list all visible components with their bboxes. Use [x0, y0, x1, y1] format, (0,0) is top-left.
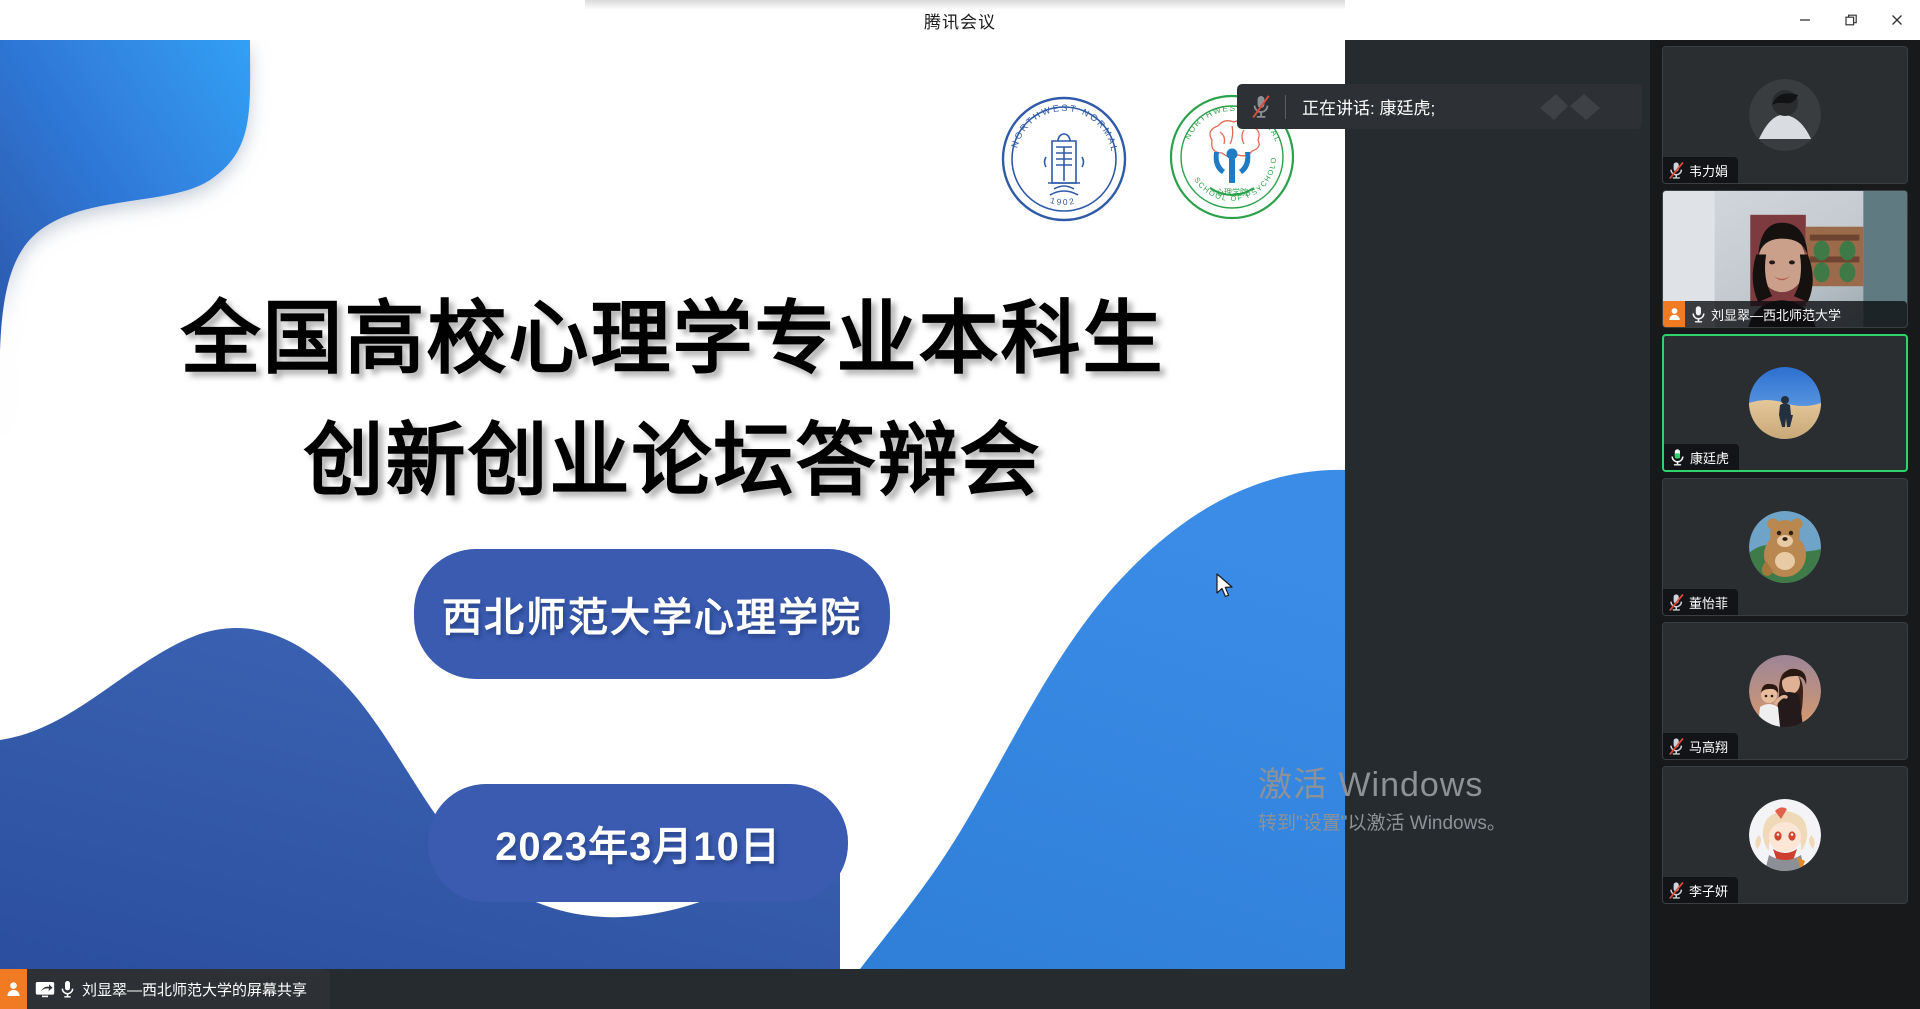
participant-tile[interactable]: 董怡菲 — [1662, 478, 1908, 616]
shared-screen-stage: NORTHWEST NORMAL UNIVERSITY 1902 — [0, 40, 1650, 1009]
date-pill: 2023年3月10日 — [428, 784, 848, 902]
participant-tile-active-speaker[interactable]: 康廷虎 — [1662, 334, 1908, 472]
organization-pill: 西北师范大学心理学院 — [414, 549, 890, 679]
svg-text:心理学院: 心理学院 — [1216, 187, 1248, 197]
title-bar: 腾讯会议 — [0, 0, 1920, 40]
mic-muted-icon — [1250, 94, 1272, 120]
banner-mic-wrapper — [1237, 94, 1285, 120]
host-badge — [1663, 301, 1685, 327]
window-title: 腾讯会议 — [924, 8, 996, 33]
participant-namebar: 康廷虎 — [1664, 444, 1739, 470]
mic-icon — [61, 980, 74, 998]
host-person-icon — [1668, 307, 1681, 321]
host-person-icon — [6, 981, 21, 997]
mic-muted-icon — [1668, 593, 1685, 612]
participant-name: 李子妍 — [1689, 881, 1728, 900]
avatar — [1749, 655, 1821, 727]
mouse-cursor-icon — [1216, 573, 1236, 601]
participant-namebar: 马高翔 — [1663, 733, 1738, 759]
participant-tile[interactable]: 李子妍 — [1662, 766, 1908, 904]
participant-name: 董怡菲 — [1689, 593, 1728, 612]
screen-share-icon — [35, 981, 55, 998]
wechat-default-avatar-icon — [1749, 79, 1821, 151]
title-bar-shadow — [585, 0, 1345, 10]
minimize-button[interactable] — [1782, 0, 1828, 40]
mic-status — [1663, 161, 1689, 180]
mic-active-icon — [1670, 448, 1685, 466]
participant-name: 韦力娟 — [1689, 161, 1728, 180]
banner-divider — [1285, 95, 1286, 119]
now-speaking-text: 正在讲话: 康廷虎; — [1302, 94, 1435, 119]
participant-name: 马高翔 — [1689, 737, 1728, 756]
close-icon — [1890, 13, 1904, 27]
bear-cartoon-avatar-icon — [1749, 511, 1821, 583]
share-indicator-icons — [35, 980, 74, 998]
now-speaking-banner: 正在讲话: 康廷虎; — [1237, 84, 1642, 129]
window-controls — [1782, 0, 1920, 40]
avatar — [1749, 799, 1821, 871]
anime-character-avatar-icon — [1749, 799, 1821, 871]
restore-button[interactable] — [1828, 0, 1874, 40]
participant-tile[interactable]: 韦力娟 — [1662, 46, 1908, 184]
participant-name: 刘显翠—西北师范大学 — [1711, 305, 1841, 324]
northwest-normal-university-seal-icon: NORTHWEST NORMAL UNIVERSITY 1902 — [1000, 95, 1128, 223]
mic-status — [1663, 593, 1689, 612]
mic-status — [1685, 305, 1711, 323]
tencent-meeting-window: 腾讯会议 — [0, 0, 1920, 1009]
avatar — [1749, 79, 1821, 151]
mic-muted-icon — [1668, 881, 1685, 900]
participant-name: 康廷虎 — [1690, 448, 1729, 467]
wechat-watermark-icon — [1532, 92, 1628, 122]
participant-namebar: 董怡菲 — [1663, 589, 1738, 615]
screen-share-label: 刘显翠—西北师范大学的屏幕共享 — [82, 979, 307, 1000]
svg-text:1902: 1902 — [1049, 195, 1076, 207]
participant-namebar: 韦力娟 — [1663, 157, 1738, 183]
close-button[interactable] — [1874, 0, 1920, 40]
mic-muted-icon — [1668, 737, 1685, 756]
host-badge — [0, 969, 27, 1009]
avatar — [1749, 511, 1821, 583]
minimize-icon — [1798, 13, 1812, 27]
mic-status — [1663, 737, 1689, 756]
participant-tile[interactable]: 刘显翠—西北师范大学 — [1662, 190, 1908, 328]
screen-share-indicator: 刘显翠—西北师范大学的屏幕共享 — [0, 969, 330, 1009]
mic-muted-icon — [1668, 161, 1685, 180]
restore-icon — [1844, 13, 1859, 28]
participant-namebar: 刘显翠—西北师范大学 — [1663, 301, 1907, 327]
participant-tile[interactable]: 马高翔 — [1662, 622, 1908, 760]
desert-person-avatar-icon — [1749, 367, 1821, 439]
participant-namebar: 李子妍 — [1663, 877, 1738, 903]
mic-icon — [1691, 305, 1706, 323]
presentation-slide: NORTHWEST NORMAL UNIVERSITY 1902 — [0, 40, 1345, 969]
participant-rail[interactable]: 韦力娟 — [1650, 40, 1920, 1009]
svg-text:NORTHWEST NORMAL UNIVERSITY: NORTHWEST NORMAL UNIVERSITY — [1000, 95, 1120, 158]
avatar — [1749, 367, 1821, 439]
mic-status — [1664, 448, 1690, 466]
mother-child-avatar-icon — [1749, 655, 1821, 727]
mic-status — [1663, 881, 1689, 900]
